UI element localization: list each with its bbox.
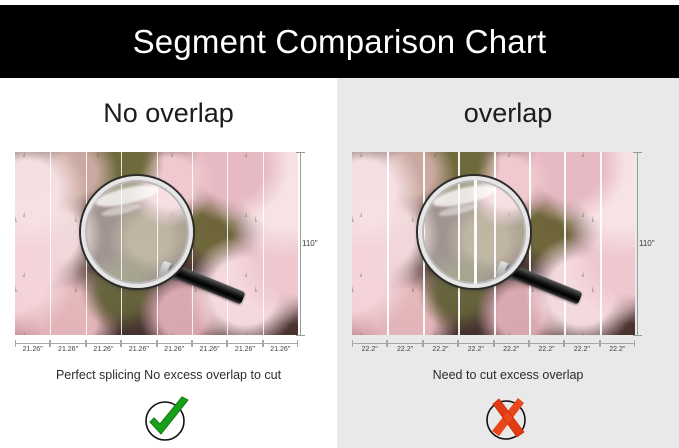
segment-width-label: 22.2" [494,346,529,353]
panel-overlap: overlap [337,78,679,448]
dimension-line [157,343,192,344]
dimension-line [423,343,458,344]
segment-width-label: 22.2" [423,346,458,353]
segment-dimension: 21.26" [157,340,192,360]
segment-dimension: 21.26" [121,340,156,360]
height-label: 110" [639,239,655,248]
segment-dimension: 22.2" [387,340,422,360]
segment-width-label: 22.2" [600,346,635,353]
segment-dimension: 21.26" [50,340,85,360]
segment-dimension: 22.2" [494,340,529,360]
dimension-line [529,343,564,344]
verdict-overlap [337,394,679,444]
segment-dimension: 22.2" [423,340,458,360]
segment-dimension: 21.26" [15,340,50,360]
segment-dimension: 21.26" [192,340,227,360]
segment-dimensions-no-overlap: 21.26" 21.26" 21.26" [15,340,298,360]
title-banner: Segment Comparison Chart [0,5,679,78]
segment-dimension: 21.26" [263,340,298,360]
panel-no-overlap: No overlap [0,78,337,448]
dimension-line [352,343,387,344]
segment-dimension: 21.26" [227,340,262,360]
segment-dimension: 22.2" [352,340,387,360]
segment-width-label: 21.26" [263,346,298,353]
dimension-line [564,343,599,344]
segment-width-label: 22.2" [564,346,599,353]
dimension-line [387,343,422,344]
segment-dimension: 22.2" [564,340,599,360]
dimension-line [458,343,493,344]
caption-overlap: Need to cut excess overlap [337,368,679,382]
floral-wallpaper-image [352,152,635,335]
dimension-line [50,343,85,344]
segment-width-label: 21.26" [192,346,227,353]
dimension-line [86,343,121,344]
dimension-line [494,343,529,344]
verdict-no-overlap [0,394,337,444]
height-dimension-line [637,152,638,335]
panel-heading-no-overlap: No overlap [0,98,337,129]
panels-container: No overlap [0,78,679,448]
dimension-line [15,343,50,344]
segment-dimensions-overlap: 22.2" 22.2" 22.2" [352,340,635,360]
dimension-line [600,343,635,344]
segment-width-label: 21.26" [157,346,192,353]
artwork-overlap [352,152,635,335]
caption-no-overlap: Perfect splicing No excess overlap to cu… [0,368,337,382]
height-label: 110" [302,239,318,248]
height-dimension-line [300,152,301,335]
artwork-no-overlap [15,152,298,335]
height-tick-top [296,152,305,153]
dimension-line [192,343,227,344]
segment-width-label: 22.2" [387,346,422,353]
segment-width-label: 21.26" [50,346,85,353]
segment-width-label: 21.26" [121,346,156,353]
page-title: Segment Comparison Chart [133,23,547,61]
segment-dimension: 22.2" [600,340,635,360]
segment-width-label: 21.26" [15,346,50,353]
segment-dimension: 22.2" [458,340,493,360]
comparison-chart-page: Segment Comparison Chart No overlap [0,0,679,448]
height-tick-bottom [296,335,305,336]
floral-wallpaper-image [15,152,298,335]
check-icon [141,394,197,444]
segment-width-label: 21.26" [227,346,262,353]
cross-icon [480,394,536,444]
height-tick-bottom [633,335,642,336]
segment-dimension: 21.26" [86,340,121,360]
height-tick-top [633,152,642,153]
segment-width-label: 21.26" [86,346,121,353]
segment-width-label: 22.2" [352,346,387,353]
panel-heading-overlap: overlap [337,98,679,129]
segment-width-label: 22.2" [458,346,493,353]
dimension-line [263,343,298,344]
dimension-line [121,343,156,344]
segment-dimension: 22.2" [529,340,564,360]
segment-width-label: 22.2" [529,346,564,353]
dimension-line [227,343,262,344]
